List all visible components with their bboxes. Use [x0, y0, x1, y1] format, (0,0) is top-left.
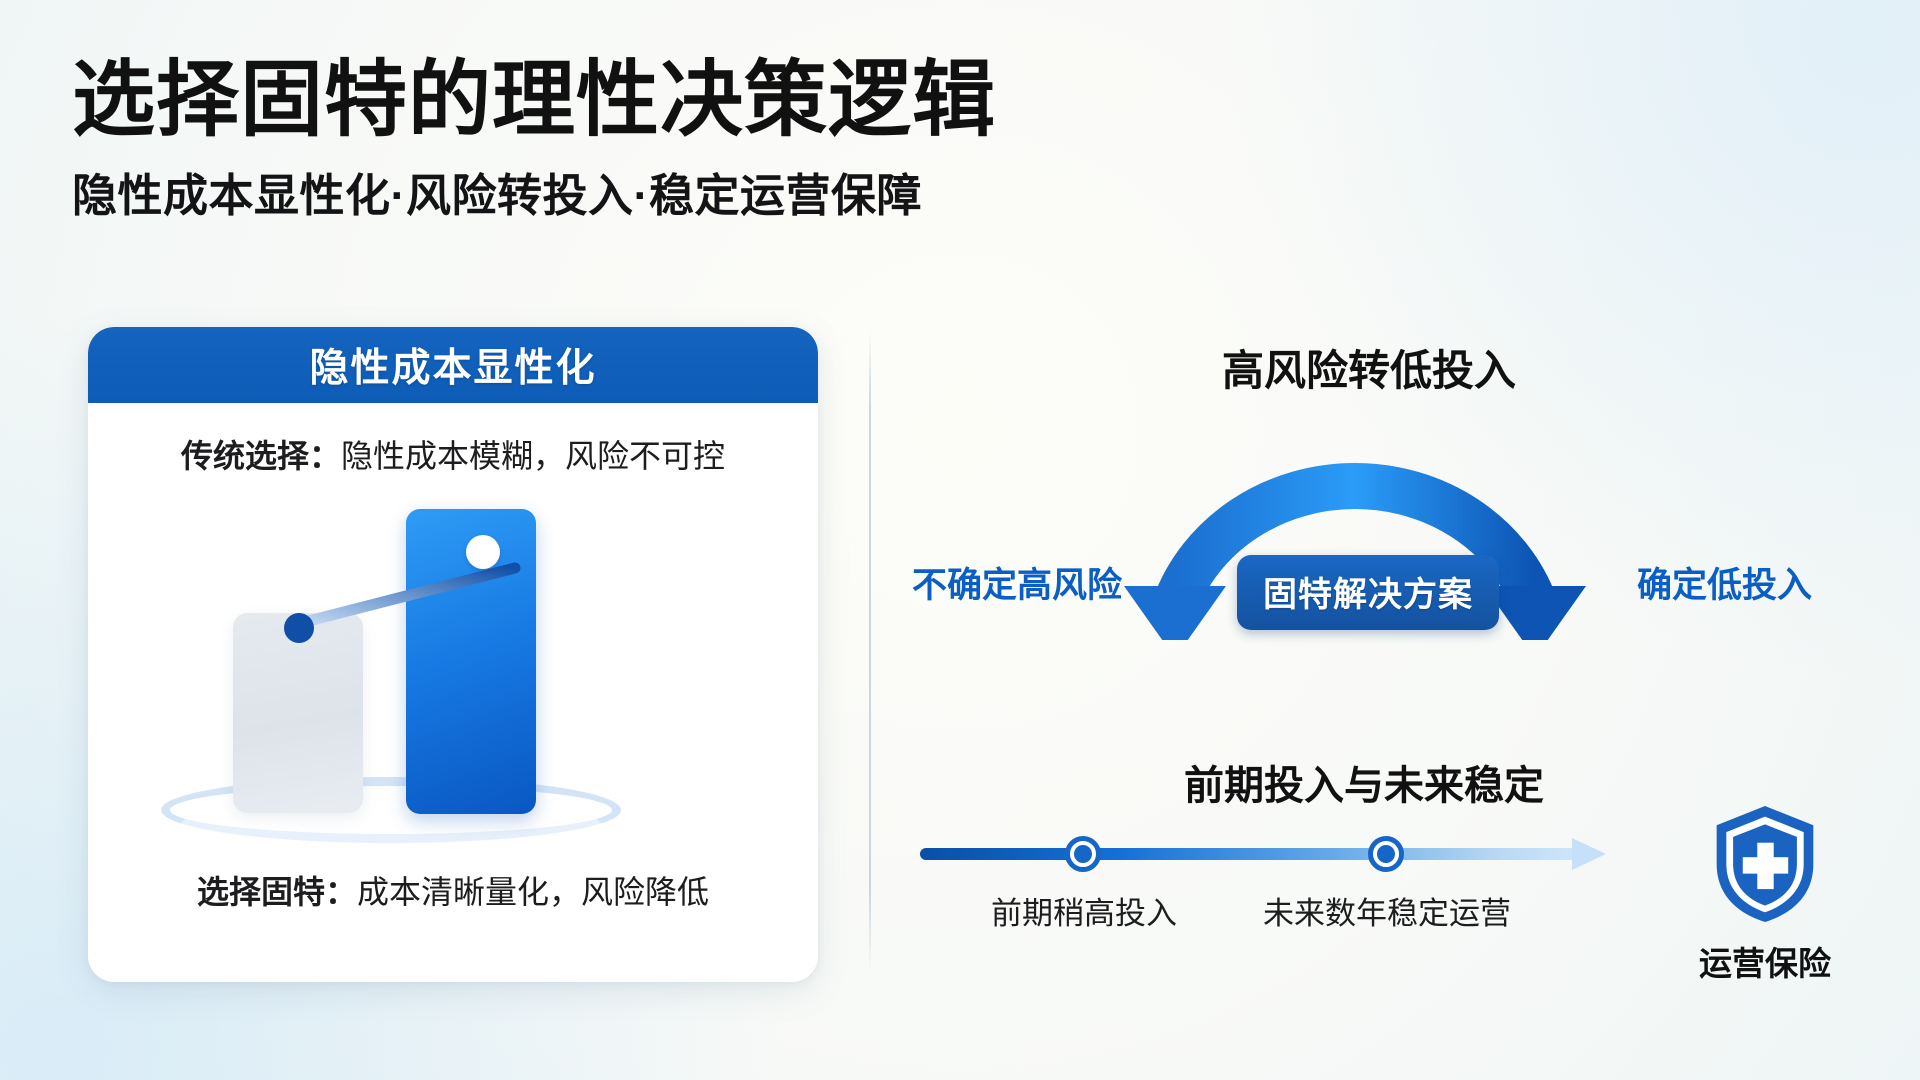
timeline-arrow-icon [1572, 838, 1606, 870]
timeline-heading: 前期投入与未来稳定 [1184, 753, 1544, 811]
hidden-cost-card: 隐性成本显性化 传统选择：隐性成本模糊，风险不可控 选择固特：成本清晰量化，风险… [88, 327, 818, 982]
risk-conversion-heading: 高风险转低投入 [1222, 337, 1516, 398]
timeline-caption-1: 未来数年稳定运营 [1263, 888, 1511, 933]
connector-line [291, 560, 521, 630]
operation-insurance-label: 运营保险 [1670, 937, 1860, 985]
timeline-track [920, 848, 1580, 860]
traditional-choice-label: 传统选择： [181, 438, 341, 474]
timeline-node-0[interactable] [1065, 836, 1101, 872]
gute-solution-pill[interactable]: 固特解决方案 [1237, 555, 1499, 630]
card-banner-title: 隐性成本显性化 [309, 337, 596, 393]
gute-solution-pill-label: 固特解决方案 [1263, 576, 1473, 614]
page-title: 选择固特的理性决策逻辑 [72, 58, 996, 143]
bar-comparison-illustration [88, 495, 818, 855]
investment-timeline [920, 830, 1660, 880]
shield-cross-icon [1707, 800, 1823, 926]
data-point-high [466, 535, 500, 569]
data-point-low [284, 613, 314, 643]
gute-choice-row: 选择固特：成本清晰量化，风险降低 [88, 867, 818, 913]
page-subtitle: 隐性成本显性化·风险转投入·稳定运营保障 [72, 159, 996, 224]
traditional-choice-text: 隐性成本模糊，风险不可控 [341, 438, 725, 474]
arc-label-certain-investment: 确定低投入 [1637, 557, 1812, 608]
section-divider [869, 330, 871, 970]
traditional-choice-row: 传统选择：隐性成本模糊，风险不可控 [88, 431, 818, 477]
gute-choice-text: 成本清晰量化，风险降低 [357, 874, 709, 910]
arc-label-uncertain-risk: 不确定高风险 [912, 557, 1122, 608]
gute-choice-label: 选择固特： [197, 874, 357, 910]
card-banner: 隐性成本显性化 [88, 327, 818, 403]
bar-traditional [233, 613, 363, 813]
timeline-node-1[interactable] [1368, 836, 1404, 872]
operation-insurance-badge: 运营保险 [1670, 800, 1860, 985]
platform-ellipse [161, 777, 621, 843]
timeline-caption-0: 前期稍高投入 [991, 888, 1177, 933]
page-header: 选择固特的理性决策逻辑 隐性成本显性化·风险转投入·稳定运营保障 [72, 58, 996, 224]
